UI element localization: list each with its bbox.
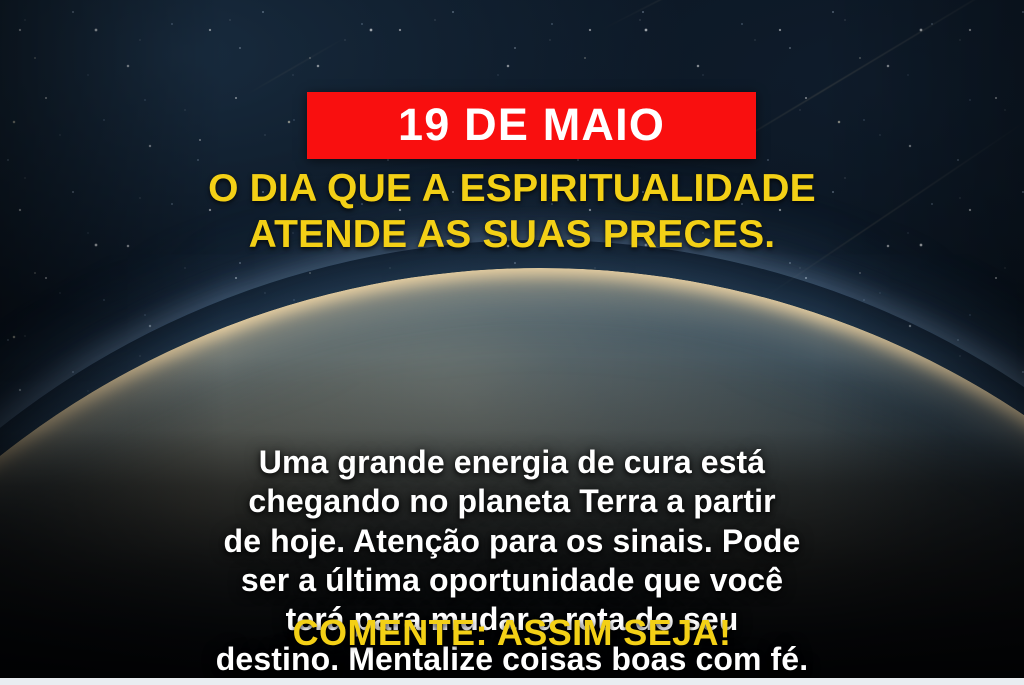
poster-canvas: 19 DE MAIO O DIA QUE A ESPIRITUALIDADE A… bbox=[0, 0, 1024, 685]
headline-text: O DIA QUE A ESPIRITUALIDADE ATENDE AS SU… bbox=[0, 166, 1024, 257]
bottom-edge-strip bbox=[0, 678, 1024, 685]
call-to-action-text: COMENTE: ASSIM SEJA! bbox=[0, 612, 1024, 654]
poster-content: 19 DE MAIO O DIA QUE A ESPIRITUALIDADE A… bbox=[0, 0, 1024, 685]
date-banner: 19 DE MAIO bbox=[307, 92, 756, 159]
date-banner-label: 19 DE MAIO bbox=[398, 102, 665, 147]
